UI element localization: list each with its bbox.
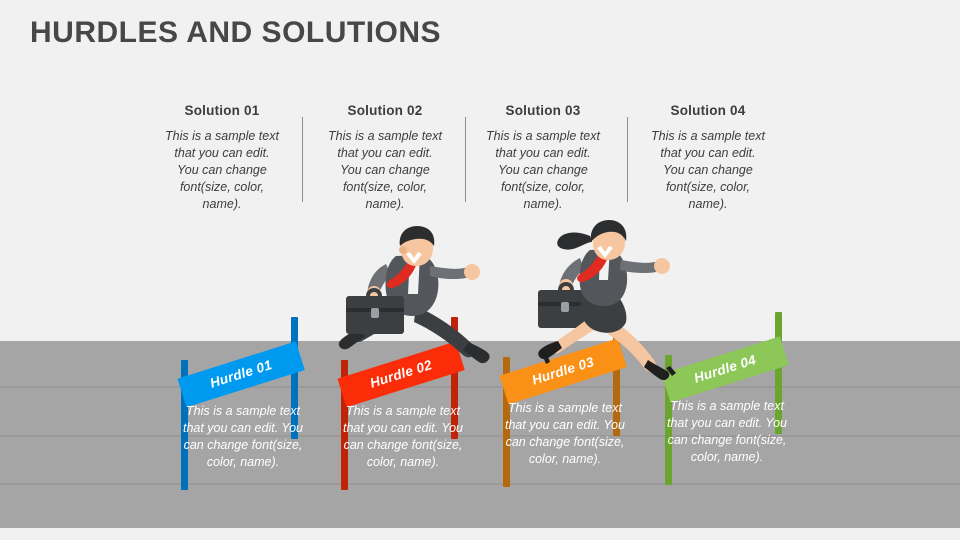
lane-line (0, 435, 960, 437)
slide-canvas: HURDLES AND SOLUTIONS Solution 01 This i… (0, 0, 960, 540)
hurdle-body: This is a sample text that you can edit.… (341, 403, 465, 471)
hurdle-banner-04[interactable]: Hurdle 04 (661, 336, 788, 402)
lane-line (0, 386, 960, 388)
solution-title: Solution 03 (463, 103, 623, 118)
solution-body: This is a sample text that you can edit.… (649, 128, 767, 213)
businessman-runner (330, 222, 490, 377)
lane-line (0, 483, 960, 485)
hurdle-group-01[interactable]: Hurdle 01 This is a sample text that you… (181, 317, 303, 492)
hurdle-label: Hurdle 04 (661, 336, 788, 402)
hurdle-body: This is a sample text that you can edit.… (181, 403, 305, 471)
solution-column-01[interactable]: Solution 01 This is a sample text that y… (142, 103, 302, 213)
hurdle-banner-01[interactable]: Hurdle 01 (177, 341, 304, 407)
solution-title: Solution 02 (305, 103, 465, 118)
solution-title: Solution 04 (628, 103, 788, 118)
column-divider (302, 117, 303, 202)
solution-body: This is a sample text that you can edit.… (163, 128, 281, 213)
solution-column-03[interactable]: Solution 03 This is a sample text that y… (463, 103, 623, 213)
hurdle-body: This is a sample text that you can edit.… (665, 398, 789, 466)
solution-column-04[interactable]: Solution 04 This is a sample text that y… (628, 103, 788, 213)
businesswoman-runner (520, 212, 680, 380)
solution-body: This is a sample text that you can edit.… (484, 128, 602, 213)
hurdle-group-04[interactable]: Hurdle 04 This is a sample text that you… (665, 312, 787, 487)
solution-body: This is a sample text that you can edit.… (326, 128, 444, 213)
solution-title: Solution 01 (142, 103, 302, 118)
businessman-illustration (330, 222, 490, 377)
hurdle-body: This is a sample text that you can edit.… (503, 400, 627, 468)
page-title: HURDLES AND SOLUTIONS (30, 16, 441, 50)
solution-column-02[interactable]: Solution 02 This is a sample text that y… (305, 103, 465, 213)
businesswoman-illustration (520, 212, 680, 380)
hurdle-label: Hurdle 01 (177, 341, 304, 407)
